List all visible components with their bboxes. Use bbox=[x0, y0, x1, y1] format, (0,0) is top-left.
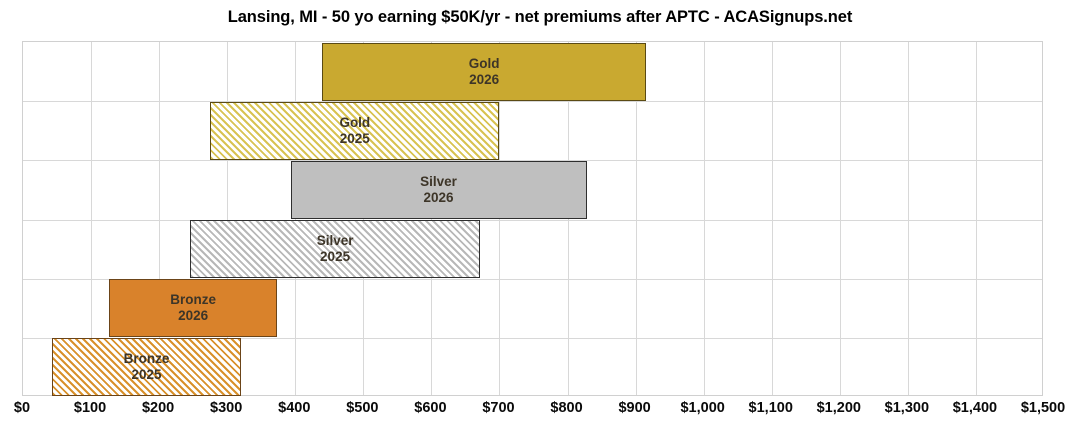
chart-root: Lansing, MI - 50 yo earning $50K/yr - ne… bbox=[0, 0, 1080, 432]
gridline-vertical bbox=[908, 42, 909, 395]
x-tick-label: $100 bbox=[74, 400, 106, 416]
x-tick-label: $1,500 bbox=[1021, 400, 1065, 416]
x-tick-label: $1,300 bbox=[885, 400, 929, 416]
bar-gold-2025[interactable]: Gold2025 bbox=[210, 102, 499, 160]
bar-label-year: 2025 bbox=[132, 367, 162, 383]
gridline-vertical bbox=[840, 42, 841, 395]
bar-label-year: 2025 bbox=[340, 131, 370, 147]
bar-bronze-2026[interactable]: Bronze2026 bbox=[109, 279, 276, 337]
bar-label-metal: Silver bbox=[420, 174, 457, 190]
x-tick-label: $600 bbox=[414, 400, 446, 416]
x-tick-label: $800 bbox=[550, 400, 582, 416]
bar-label-metal: Bronze bbox=[124, 351, 170, 367]
x-tick-label: $1,200 bbox=[817, 400, 861, 416]
gridline-horizontal bbox=[23, 220, 1042, 221]
bar-label-year: 2026 bbox=[469, 72, 499, 88]
gridline-vertical bbox=[976, 42, 977, 395]
x-tick-label: $1,400 bbox=[953, 400, 997, 416]
x-axis: $0$100$200$300$400$500$600$700$800$900$1… bbox=[0, 398, 1080, 428]
bar-label-year: 2026 bbox=[424, 190, 454, 206]
bar-label-year: 2026 bbox=[178, 308, 208, 324]
bar-silver-2026[interactable]: Silver2026 bbox=[291, 161, 587, 219]
plot-area: Gold2026Gold2025Silver2026Silver2025Bron… bbox=[22, 41, 1043, 396]
x-tick-label: $300 bbox=[210, 400, 242, 416]
bar-label-metal: Gold bbox=[339, 115, 370, 131]
gridline-horizontal bbox=[23, 101, 1042, 102]
gridline-vertical bbox=[772, 42, 773, 395]
x-tick-label: $1,000 bbox=[680, 400, 724, 416]
x-tick-label: $1,100 bbox=[749, 400, 793, 416]
bar-label-metal: Gold bbox=[469, 56, 500, 72]
x-tick-label: $400 bbox=[278, 400, 310, 416]
bar-label-metal: Silver bbox=[317, 233, 354, 249]
x-tick-label: $500 bbox=[346, 400, 378, 416]
bar-bronze-2025[interactable]: Bronze2025 bbox=[52, 338, 242, 396]
x-tick-label: $700 bbox=[482, 400, 514, 416]
bar-label-metal: Bronze bbox=[170, 292, 216, 308]
bar-gold-2026[interactable]: Gold2026 bbox=[322, 43, 645, 101]
bar-label-year: 2025 bbox=[320, 249, 350, 265]
bar-silver-2025[interactable]: Silver2025 bbox=[190, 220, 479, 278]
gridline-vertical bbox=[704, 42, 705, 395]
x-tick-label: $0 bbox=[14, 400, 30, 416]
chart-title: Lansing, MI - 50 yo earning $50K/yr - ne… bbox=[0, 8, 1080, 27]
x-tick-label: $900 bbox=[618, 400, 650, 416]
x-tick-label: $200 bbox=[142, 400, 174, 416]
